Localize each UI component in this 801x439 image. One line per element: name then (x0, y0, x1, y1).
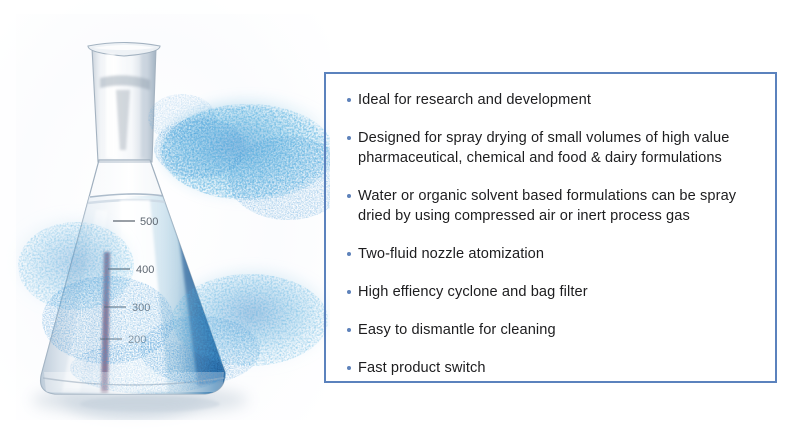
bullet-icon (347, 366, 351, 370)
graduation-label-500: 500 (140, 216, 158, 228)
list-item: High effiency cyclone and bag filter (347, 282, 765, 302)
feature-text: Designed for spray drying of small volum… (358, 128, 758, 168)
list-item: Water or organic solvent based formulati… (347, 186, 765, 226)
bullet-icon (347, 328, 351, 332)
feature-text: Easy to dismantle for cleaning (358, 320, 556, 340)
graduation-label-400: 400 (136, 264, 154, 276)
list-item: Fast product switch (347, 358, 765, 378)
feature-text: High effiency cyclone and bag filter (358, 282, 588, 302)
feature-text: Two-fluid nozzle atomization (358, 244, 544, 264)
flask-neck (88, 43, 160, 163)
list-item: Designed for spray drying of small volum… (347, 128, 765, 168)
list-item: Easy to dismantle for cleaning (347, 320, 765, 340)
bullet-icon (347, 290, 351, 294)
feature-list: Ideal for research and development Desig… (347, 90, 765, 378)
laboratory-flask-photo: 500 400 300 200 (0, 0, 330, 439)
page-root: 500 400 300 200 (0, 0, 801, 439)
bullet-icon (347, 194, 351, 198)
feature-text: Fast product switch (358, 358, 486, 378)
list-item: Two-fluid nozzle atomization (347, 244, 765, 264)
feature-text: Water or organic solvent based formulati… (358, 186, 758, 226)
bullet-icon (347, 136, 351, 140)
bullet-icon (347, 98, 351, 102)
bullet-icon (347, 252, 351, 256)
feature-list-box: Ideal for research and development Desig… (324, 72, 777, 383)
feature-text: Ideal for research and development (358, 90, 591, 110)
list-item: Ideal for research and development (347, 90, 765, 110)
